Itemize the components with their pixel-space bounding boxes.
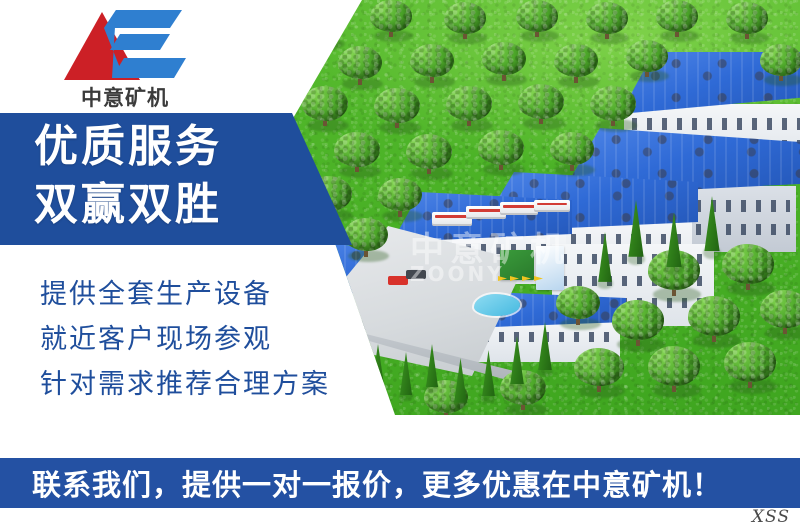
tree xyxy=(338,46,382,90)
tree xyxy=(518,84,564,130)
flag-row xyxy=(498,276,544,288)
logo-blue-mid-bar-icon xyxy=(110,34,170,50)
car-red xyxy=(388,276,408,285)
tree xyxy=(648,346,700,398)
tree xyxy=(406,134,452,180)
tree xyxy=(300,6,344,50)
car-dark xyxy=(406,270,426,279)
tree xyxy=(556,286,600,330)
tree xyxy=(554,44,598,88)
logo-blue-bottom-bar-icon xyxy=(112,58,186,78)
feature-item: 提供全套生产设备 xyxy=(40,272,330,317)
conifer-tree xyxy=(424,344,440,394)
tree xyxy=(334,132,380,178)
tree xyxy=(446,86,492,132)
decorative-pool xyxy=(474,294,520,316)
conifer-tree xyxy=(626,200,646,266)
tree xyxy=(590,86,636,132)
tree xyxy=(726,2,768,44)
truck xyxy=(534,200,570,212)
tree xyxy=(410,44,454,88)
conifer-tree xyxy=(702,196,722,260)
headline-line-2: 双赢双胜 xyxy=(34,176,222,234)
promo-poster: 中意矿机 ZOONY 优质服务 双赢双胜 中意矿机 提供全套生产设备 就近客户现… xyxy=(0,0,800,530)
conifer-tree xyxy=(596,232,614,290)
tree xyxy=(656,0,698,42)
tree xyxy=(760,290,800,340)
tree xyxy=(516,0,558,42)
tree xyxy=(302,86,348,132)
tree xyxy=(370,0,412,42)
headline-text: 优质服务 双赢双胜 xyxy=(34,118,222,234)
contact-banner: 联系我们，提供一对一报价，更多优惠在中意矿机！ xyxy=(0,458,800,508)
tree xyxy=(344,218,388,262)
tree xyxy=(444,2,486,44)
conifer-tree xyxy=(664,212,684,276)
tree xyxy=(374,88,420,134)
truck xyxy=(500,202,538,215)
tree xyxy=(626,40,668,82)
tree xyxy=(688,296,740,348)
corner-watermark: XSS xyxy=(752,507,790,527)
conifer-tree xyxy=(452,358,469,410)
tree xyxy=(586,2,628,44)
conifer-tree xyxy=(508,336,526,392)
feature-item: 针对需求推荐合理方案 xyxy=(40,362,330,407)
tree xyxy=(550,132,594,176)
tree xyxy=(722,244,774,296)
tree xyxy=(574,348,624,398)
tree xyxy=(724,342,776,394)
tree xyxy=(478,130,524,176)
tree xyxy=(482,42,526,86)
tree xyxy=(612,300,664,352)
conifer-tree xyxy=(370,344,386,392)
conifer-tree xyxy=(480,350,497,404)
tree xyxy=(760,44,800,86)
headline-line-1: 优质服务 xyxy=(34,118,222,176)
tree xyxy=(378,178,422,222)
company-logo: 中意矿机 xyxy=(58,8,188,108)
feature-list: 提供全套生产设备 就近客户现场参观 针对需求推荐合理方案 xyxy=(40,272,330,407)
conifer-tree xyxy=(536,322,554,378)
logo-mark-icon xyxy=(58,8,188,80)
conifer-tree xyxy=(398,352,414,402)
contact-banner-text: 联系我们，提供一对一报价，更多优惠在中意矿机！ xyxy=(32,462,722,504)
feature-item: 就近客户现场参观 xyxy=(40,317,330,362)
logo-company-name: 中意矿机 xyxy=(62,82,188,112)
